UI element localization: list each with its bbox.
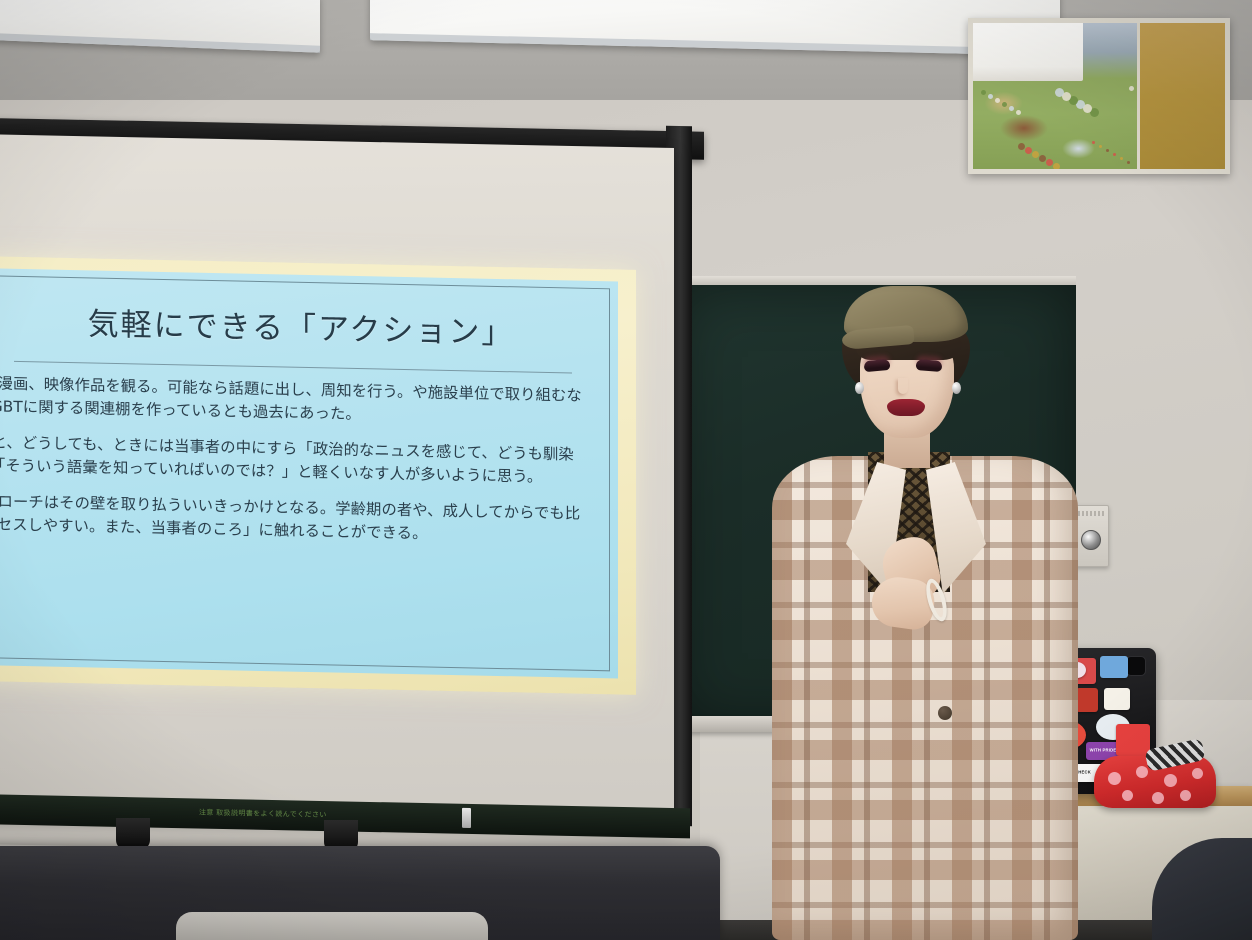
- eye-right: [916, 359, 943, 372]
- poster-detail-dot: [1127, 161, 1130, 164]
- poster-detail-dot: [995, 98, 1000, 103]
- poster-detail-dot: [1009, 106, 1014, 111]
- pouch-dot: [1136, 766, 1148, 778]
- chair-backrest: [176, 912, 488, 940]
- laptop-sticker: [1104, 688, 1130, 710]
- poster-detail-dot: [1053, 163, 1060, 170]
- earring-left: [855, 382, 864, 394]
- poster-detail-dot: [1113, 153, 1116, 156]
- slide-paragraph: 的なアプローチはその壁を取り払ういいきっかけとなる。学齢期の者や、成人してからで…: [0, 489, 588, 549]
- presentation-slide: 気軽にできる「アクション」 した本、漫画、映像作品を観る。可能なら話題に出し、周…: [0, 256, 636, 695]
- poster-detail-dot: [988, 94, 993, 99]
- pouch-dot: [1152, 792, 1164, 804]
- poster-detail-dot: [1039, 155, 1046, 162]
- poster-detail-dot: [1099, 145, 1102, 148]
- poster-detail-dot: [1046, 159, 1053, 166]
- pouch-dot: [1108, 772, 1121, 785]
- poster-detail-dot: [1129, 86, 1134, 91]
- poster-detail-dot: [1055, 88, 1064, 97]
- laptop-sticker: [1116, 724, 1150, 756]
- presenter: [760, 286, 1090, 940]
- poster-detail-dot: [1016, 110, 1021, 115]
- poster-detail-dot: [1032, 151, 1039, 158]
- pouch-dot: [1122, 790, 1133, 801]
- framed-poster: [968, 18, 1230, 174]
- pouch-dot: [1192, 768, 1203, 779]
- poster-detail-dot: [981, 90, 986, 95]
- eye-left: [864, 359, 891, 372]
- coat-button: [938, 706, 952, 720]
- pouch-dot: [1164, 774, 1177, 787]
- laptop-sticker: [1076, 688, 1098, 712]
- slide-paragraph: Tと聞くと、どうしても、ときには当事者の中にすら「政治的なニュスを感じて、どうも…: [0, 430, 588, 490]
- pouch-dot: [1180, 790, 1191, 801]
- ceiling-light-left: [0, 0, 320, 53]
- projector-screen-assembly: 気軽にできる「アクション」 した本、漫画、映像作品を観る。可能なら話題に出し、周…: [0, 118, 718, 848]
- poster-detail-dot: [1025, 147, 1032, 154]
- sticker-label: WITH PRIDE: [1086, 749, 1120, 754]
- screen-clip: [462, 808, 471, 828]
- light-edge: [370, 33, 1060, 56]
- laptop-sticker: [1100, 656, 1128, 678]
- poster-tan-panel: [1137, 23, 1225, 169]
- poster-occluding-light: [968, 18, 1083, 81]
- poster-detail-dot: [1092, 141, 1095, 144]
- ceiling-light-right: [370, 0, 1060, 56]
- poster-detail-dot: [1120, 157, 1123, 160]
- screen-warning-label: 注意 取扱説明書をよく読んでください: [199, 808, 327, 821]
- slide-body-text: した本、漫画、映像作品を観る。可能なら話題に出し、周知を行う。や施設単位で取り組…: [0, 371, 588, 561]
- poster-detail-dot: [1002, 102, 1007, 107]
- light-edge: [0, 32, 320, 52]
- classroom-scene: 気軽にできる「アクション」 した本、漫画、映像作品を観る。可能なら話題に出し、周…: [0, 0, 1252, 940]
- lips: [887, 399, 925, 416]
- slide-content-area: 気軽にできる「アクション」 した本、漫画、映像作品を観る。可能なら話題に出し、周…: [0, 268, 618, 678]
- earring-right: [952, 382, 961, 394]
- poster-detail-dot: [1018, 143, 1025, 150]
- camera-module-icon: [1126, 656, 1146, 676]
- poster-detail-dot: [1106, 149, 1109, 152]
- nose: [898, 378, 908, 394]
